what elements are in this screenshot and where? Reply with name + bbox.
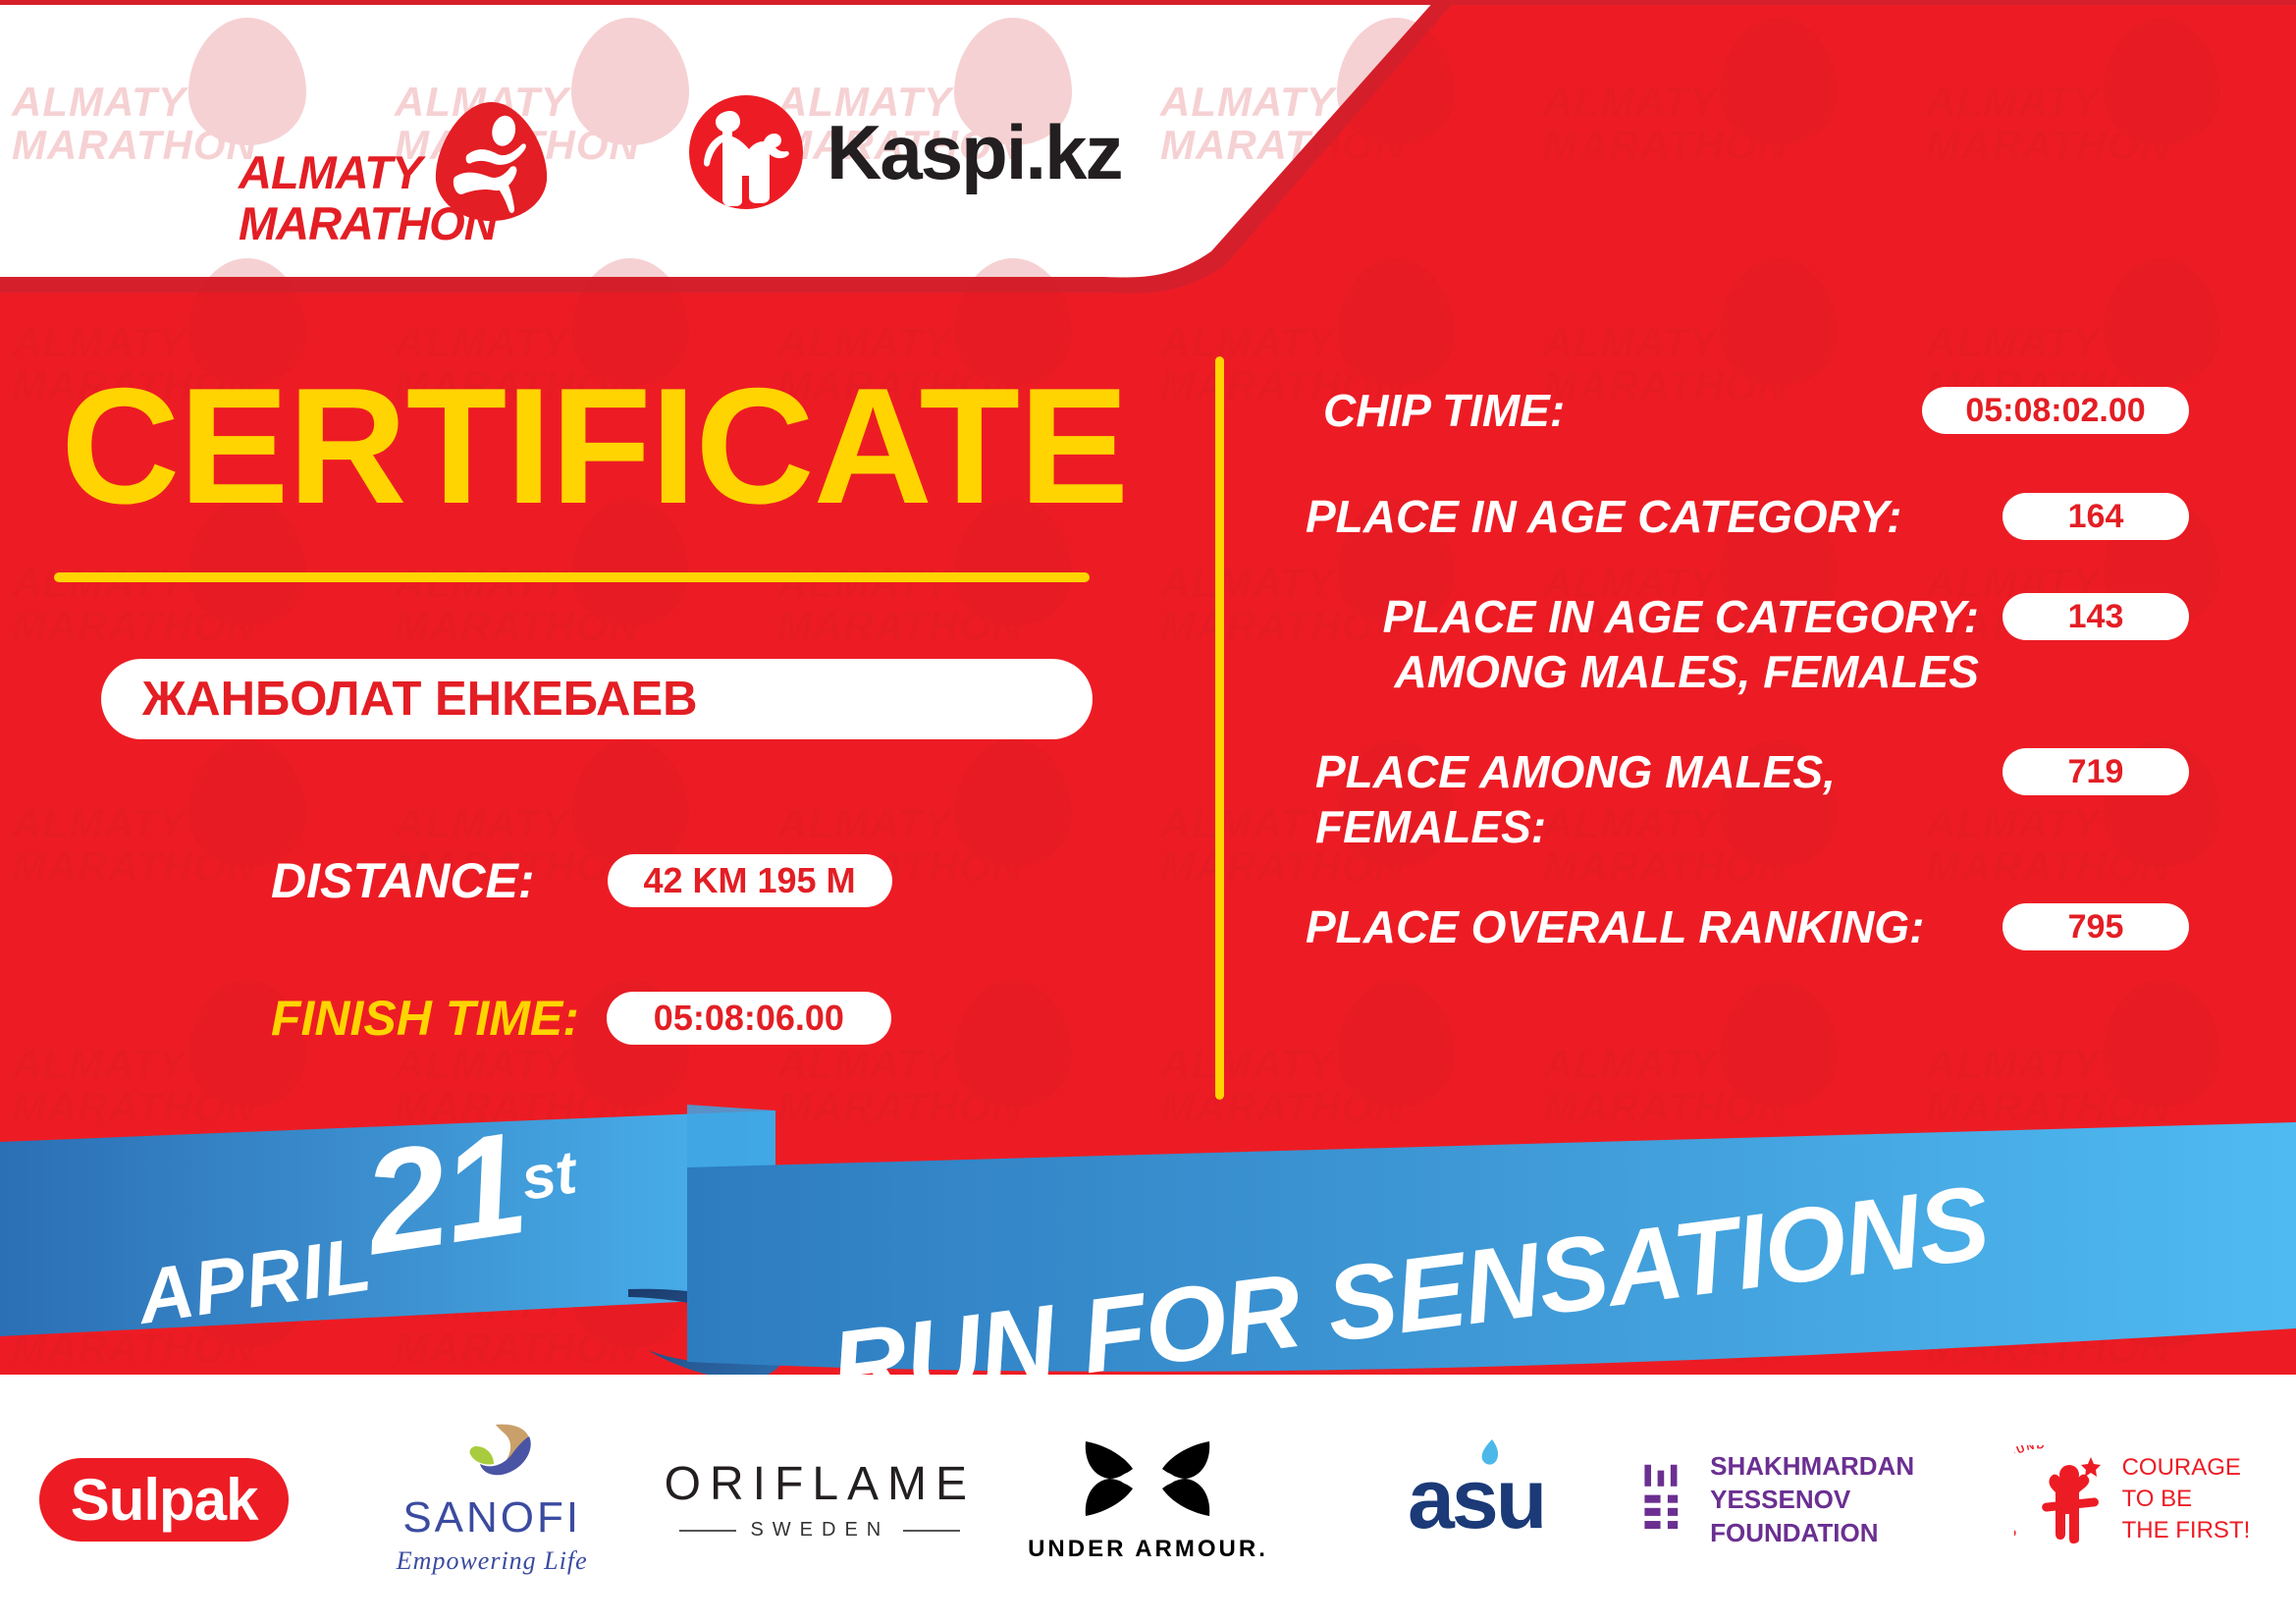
result-row-place-age-category-among: PLACE IN AGE CATEGORY: AMONG MALES, FEMA…	[1306, 589, 2189, 699]
svg-text:CORPORATE FUND: CORPORATE FUND	[2014, 1445, 2046, 1540]
courage-child-icon: CORPORATE FUND	[2014, 1445, 2112, 1553]
place-age-category-among-value: 143	[2002, 593, 2189, 640]
sanofi-tagline: Empowering Life	[397, 1546, 588, 1576]
courage-line1: COURAGE	[2122, 1452, 2251, 1484]
place-among-males-females-label: PLACE AMONG MALES, FEMALES:	[1306, 744, 1979, 854]
header: ALMATY MARATHON Kaspi.kz	[0, 0, 1227, 265]
yessenov-line1: SHAKHMARDAN YESSENOV	[1710, 1449, 1968, 1516]
courage-line2: TO BE	[2122, 1484, 2251, 1515]
courage-line3: THE FIRST!	[2122, 1515, 2251, 1546]
under-armour-wordmark: UNDER ARMOUR.	[1028, 1536, 1268, 1563]
asu-droplet-icon	[1476, 1437, 1502, 1471]
oriflame-wordmark: ORIFLAME	[665, 1457, 976, 1511]
kaspi-wordmark: Kaspi.kz	[827, 108, 1121, 197]
chip-time-label: CHIP TIME:	[1306, 383, 1898, 438]
finish-time-row: FINISH TIME: 05:08:06.00	[271, 990, 1193, 1047]
place-among-males-females-line1: PLACE AMONG MALES,	[1315, 744, 1979, 799]
courage-lockup: CORPORATE FUND COURAGE TO BE THE FIRST!	[2014, 1445, 2251, 1553]
sponsor-courage-to-be-the-first: CORPORATE FUND COURAGE TO BE THE FIRST!	[1968, 1445, 2296, 1553]
sponsor-sulpak: Sulpak	[0, 1458, 328, 1542]
oriflame-rule-right	[903, 1530, 960, 1532]
distance-value: 42 KM 195 M	[608, 854, 892, 907]
ribbon-day: 21	[354, 1102, 534, 1285]
under-armour-icon	[1074, 1435, 1221, 1530]
participant-name-field: ЖАНБОЛАТ ЕНКЕБАЕВ	[101, 659, 1093, 739]
almaty-marathon-logo: ALMATY MARATHON	[116, 51, 440, 208]
yessenov-line2: FOUNDATION	[1710, 1516, 1968, 1549]
sponsor-asu: asu	[1312, 1451, 1640, 1548]
chip-time-value: 05:08:02.00	[1922, 387, 2189, 434]
runner-drop-icon	[430, 100, 553, 223]
yessenov-lockup: SHAKHMARDAN YESSENOV FOUNDATION	[1640, 1449, 1968, 1549]
place-overall-ranking-label: PLACE OVERALL RANKING:	[1306, 899, 1924, 954]
column-divider	[1215, 356, 1224, 1100]
sponsor-sanofi: SANOFI Empowering Life	[328, 1423, 656, 1576]
result-row-chip-time: CHIP TIME: 05:08:02.00	[1306, 383, 2189, 438]
sanofi-wordmark: SANOFI	[402, 1493, 581, 1543]
sulpak-logo: Sulpak	[39, 1458, 290, 1542]
place-age-category-value: 164	[2002, 493, 2189, 540]
participant-name: ЖАНБОЛАТ ЕНКЕБАЕВ	[142, 672, 698, 727]
place-among-males-females-line2: FEMALES:	[1315, 799, 1979, 854]
distance-row: DISTANCE: 42 KM 195 M	[271, 852, 1193, 909]
result-row-place-age-category: PLACE IN AGE CATEGORY: 164	[1306, 489, 2189, 544]
oriflame-sub: SWEDEN	[679, 1519, 960, 1542]
certificate-page: ALMATY MARATHON ALMATY MARATHON	[0, 0, 2296, 1624]
result-row-place-overall-ranking: PLACE OVERALL RANKING: 795	[1306, 899, 2189, 954]
place-age-category-among-line1: PLACE IN AGE CATEGORY:	[1306, 589, 1979, 644]
oriflame-rule-left	[679, 1530, 736, 1532]
ribbon-day-suffix: st	[517, 1138, 581, 1213]
sanofi-icon	[445, 1423, 539, 1489]
sponsor-oriflame: ORIFLAME SWEDEN	[656, 1457, 984, 1542]
place-among-males-females-value: 719	[2002, 748, 2189, 795]
finish-time-label: FINISH TIME:	[271, 990, 579, 1047]
finish-time-value: 05:08:06.00	[607, 992, 891, 1045]
page-title: CERTIFICATE	[61, 363, 1193, 528]
place-age-category-among-label: PLACE IN AGE CATEGORY: AMONG MALES, FEMA…	[1306, 589, 1979, 699]
yessenov-icon	[1640, 1450, 1690, 1548]
place-age-category-among-line2: AMONG MALES, FEMALES	[1306, 644, 1979, 699]
kaspi-people-icon	[687, 93, 805, 211]
oriflame-tagline: SWEDEN	[750, 1519, 889, 1542]
yessenov-wordmark: SHAKHMARDAN YESSENOV FOUNDATION	[1710, 1449, 1968, 1549]
sponsor-under-armour: UNDER ARMOUR.	[984, 1435, 1311, 1563]
title-divider	[54, 572, 1090, 582]
sponsor-strip: Sulpak SANOFI Empowering Life ORIFLAME S…	[0, 1375, 2296, 1624]
left-column: CERTIFICATE ЖАНБОЛАТ ЕНКЕБАЕВ DISTANCE: …	[0, 363, 1193, 1047]
results-column: CHIP TIME: 05:08:02.00 PLACE IN AGE CATE…	[1306, 383, 2189, 1000]
sponsor-yessenov-foundation: SHAKHMARDAN YESSENOV FOUNDATION	[1640, 1449, 1968, 1549]
courage-wordmark: COURAGE TO BE THE FIRST!	[2122, 1452, 2251, 1546]
kaspi-logo: Kaspi.kz	[687, 93, 1121, 211]
distance-label: DISTANCE:	[271, 852, 535, 909]
place-age-category-label: PLACE IN AGE CATEGORY:	[1306, 489, 1901, 544]
result-row-place-among-males-females: PLACE AMONG MALES, FEMALES: 719	[1306, 744, 2189, 854]
place-overall-ranking-value: 795	[2002, 903, 2189, 950]
sulpak-wordmark: Sulpak	[71, 1467, 258, 1533]
